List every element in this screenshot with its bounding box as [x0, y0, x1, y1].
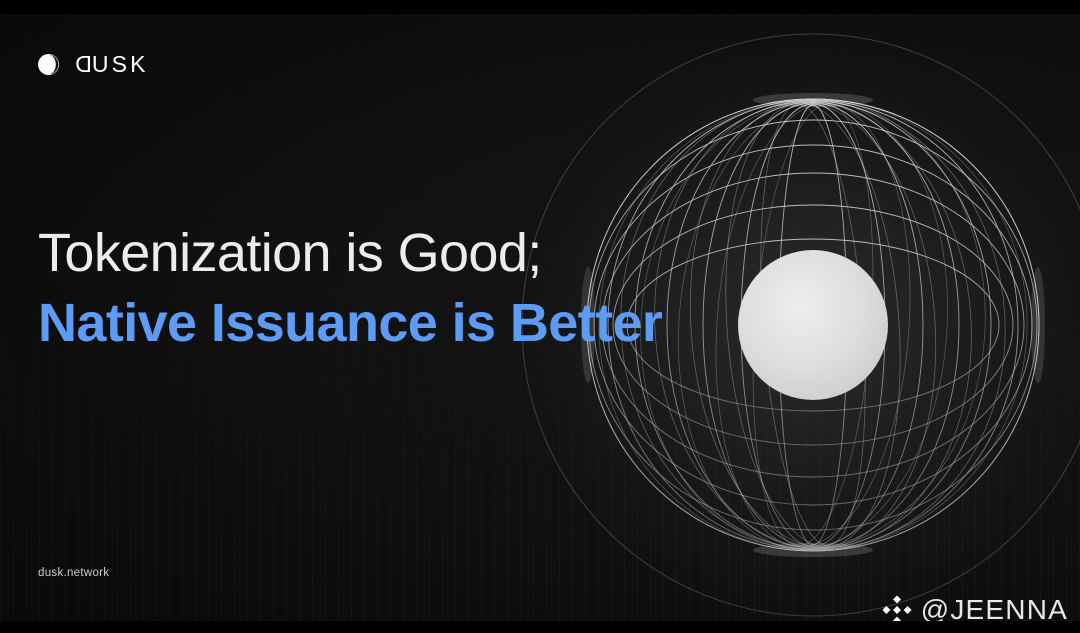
- letterbox-bar-top: [0, 0, 1080, 14]
- dusk-logo[interactable]: DUSK: [36, 52, 149, 77]
- site-url[interactable]: dusk.network: [38, 567, 109, 579]
- dusk-wordmark: DUSK: [72, 53, 149, 76]
- letterbox-bar-bottom: [0, 621, 1080, 633]
- core-sphere: [738, 250, 888, 400]
- headline-block: Tokenization is Good; Native Issuance is…: [38, 218, 662, 358]
- headline-line-2: Native Issuance is Better: [38, 288, 662, 358]
- slide-root: DUSK Tokenization is Good; Native Issuan…: [0, 0, 1080, 633]
- headline-line-1: Tokenization is Good;: [38, 218, 662, 288]
- dusk-moon-icon: [36, 52, 61, 77]
- watermark-handle: @JEENNA: [921, 596, 1068, 624]
- slide-stage: DUSK Tokenization is Good; Native Issuan…: [0, 14, 1080, 621]
